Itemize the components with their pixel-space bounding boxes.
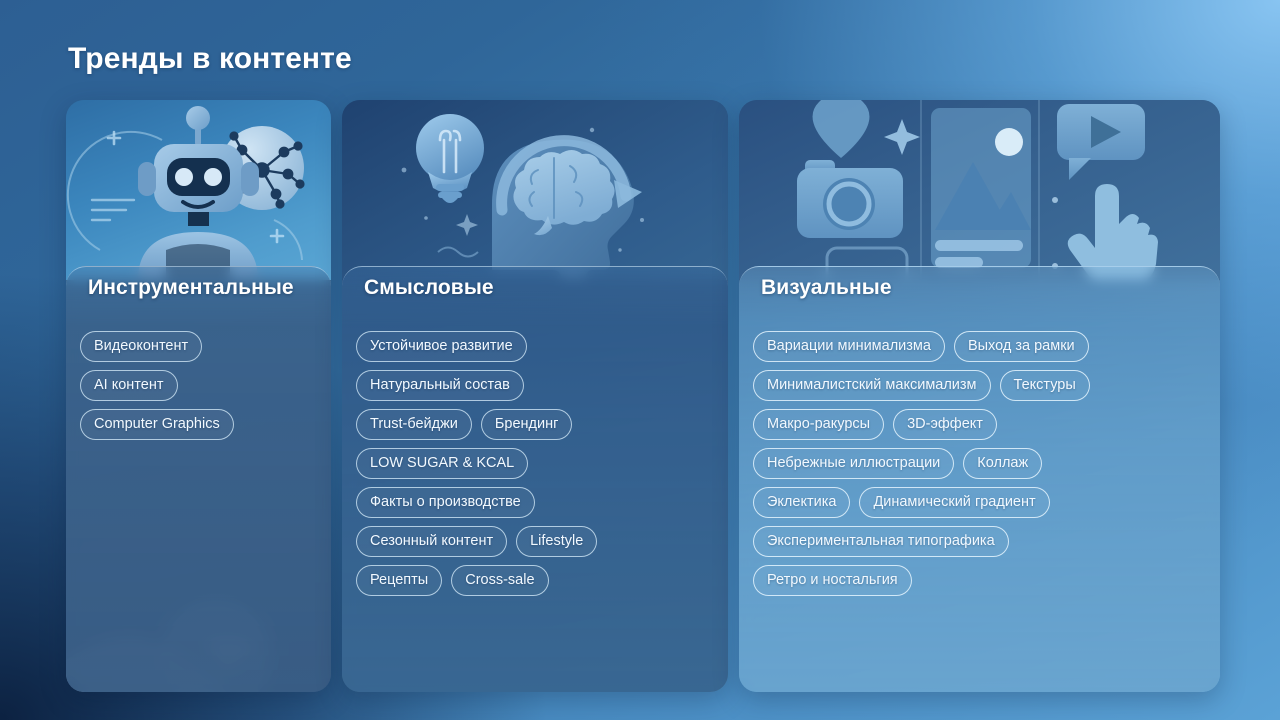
robot-ai-brain-illustration	[66, 100, 331, 280]
camera-image-video-illustration	[739, 100, 1220, 280]
lightbulb-head-brain-illustration	[342, 100, 728, 280]
card-glass-panel: Смысловые Устойчивое развитие Натуральны…	[342, 266, 728, 692]
heart-icon	[813, 100, 870, 158]
tag-row: Эклектика Динамический градиент	[753, 487, 1208, 518]
tag-item[interactable]: Trust-бейджи	[356, 409, 472, 440]
slide-root: Тренды в контенте	[0, 0, 1280, 720]
tag-list: Видеоконтент AI контент Computer Graphic…	[80, 331, 319, 440]
tag-row: Рецепты Cross-sale	[356, 565, 716, 596]
tag-item[interactable]: Брендинг	[481, 409, 573, 440]
card-glass-panel: Визуальные Вариации минимализма Выход за…	[739, 266, 1220, 692]
card-vizualnye[interactable]: Визуальные Вариации минимализма Выход за…	[739, 100, 1220, 692]
card-title: Инструментальные	[88, 276, 294, 300]
tag-row: Видеоконтент	[80, 331, 319, 362]
tag-item[interactable]: Коллаж	[963, 448, 1042, 479]
tag-item[interactable]: Вариации минимализма	[753, 331, 945, 362]
lightbulb-icon	[416, 114, 484, 203]
tag-item[interactable]: Рецепты	[356, 565, 442, 596]
tag-item[interactable]: Видеоконтент	[80, 331, 202, 362]
image-placeholder-icon	[931, 108, 1031, 268]
sun-icon	[995, 128, 1023, 156]
tag-row: Минималистский максимализм Текстуры	[753, 370, 1208, 401]
tag-item[interactable]: Сезонный контент	[356, 526, 507, 557]
card-title: Смысловые	[364, 276, 494, 300]
sparkle-icon	[884, 119, 920, 155]
tag-item[interactable]: Минималистский максимализм	[753, 370, 991, 401]
tag-item[interactable]: Экспериментальная типографика	[753, 526, 1009, 557]
tag-list: Вариации минимализма Выход за рамки Мини…	[753, 331, 1208, 596]
camera-icon	[797, 160, 903, 238]
tag-item[interactable]: Макро-ракурсы	[753, 409, 884, 440]
tag-item[interactable]: Текстуры	[1000, 370, 1090, 401]
tag-row: Макро-ракурсы 3D-эффект	[753, 409, 1208, 440]
tag-row: Экспериментальная типографика	[753, 526, 1208, 557]
tag-item[interactable]: Ретро и ностальгия	[753, 565, 912, 596]
tag-item[interactable]: AI контент	[80, 370, 178, 401]
tag-row: LOW SUGAR & KCAL	[356, 448, 716, 479]
dot-icon	[1052, 197, 1058, 269]
tag-row: Computer Graphics	[80, 409, 319, 440]
tag-row: Устойчивое развитие	[356, 331, 716, 362]
tag-row: Trust-бейджи Брендинг	[356, 409, 716, 440]
tag-item[interactable]: Динамический градиент	[859, 487, 1049, 518]
tag-item[interactable]: Небрежные иллюстрации	[753, 448, 954, 479]
tag-item[interactable]: Computer Graphics	[80, 409, 234, 440]
card-instrumentalnye[interactable]: Инструментальные Видеоконтент AI контент…	[66, 100, 331, 692]
tag-item[interactable]: Cross-sale	[451, 565, 548, 596]
card-smyslovye[interactable]: Смысловые Устойчивое развитие Натуральны…	[342, 100, 728, 692]
tag-item[interactable]: Факты о производстве	[356, 487, 535, 518]
tag-item[interactable]: LOW SUGAR & KCAL	[356, 448, 528, 479]
page-title: Тренды в контенте	[68, 42, 352, 76]
card-title: Визуальные	[761, 276, 892, 300]
tag-row: Натуральный состав	[356, 370, 716, 401]
card-glass-panel: Инструментальные Видеоконтент AI контент…	[66, 266, 331, 692]
tag-item[interactable]: Выход за рамки	[954, 331, 1089, 362]
tag-row: Небрежные иллюстрации Коллаж	[753, 448, 1208, 479]
cards-row: Инструментальные Видеоконтент AI контент…	[66, 100, 1220, 692]
lines-icon	[92, 200, 134, 220]
tag-item[interactable]: Эклектика	[753, 487, 850, 518]
tag-item[interactable]: Lifestyle	[516, 526, 597, 557]
play-bubble-icon	[1057, 104, 1145, 180]
tag-row: AI контент	[80, 370, 319, 401]
tag-item[interactable]: Устойчивое развитие	[356, 331, 527, 362]
tag-row: Вариации минимализма Выход за рамки	[753, 331, 1208, 362]
tag-list: Устойчивое развитие Натуральный состав T…	[356, 331, 716, 596]
tag-row: Факты о производстве	[356, 487, 716, 518]
tag-item[interactable]: Натуральный состав	[356, 370, 524, 401]
tag-item[interactable]: 3D-эффект	[893, 409, 997, 440]
tag-row: Сезонный контент Lifestyle	[356, 526, 716, 557]
tag-row: Ретро и ностальгия	[753, 565, 1208, 596]
